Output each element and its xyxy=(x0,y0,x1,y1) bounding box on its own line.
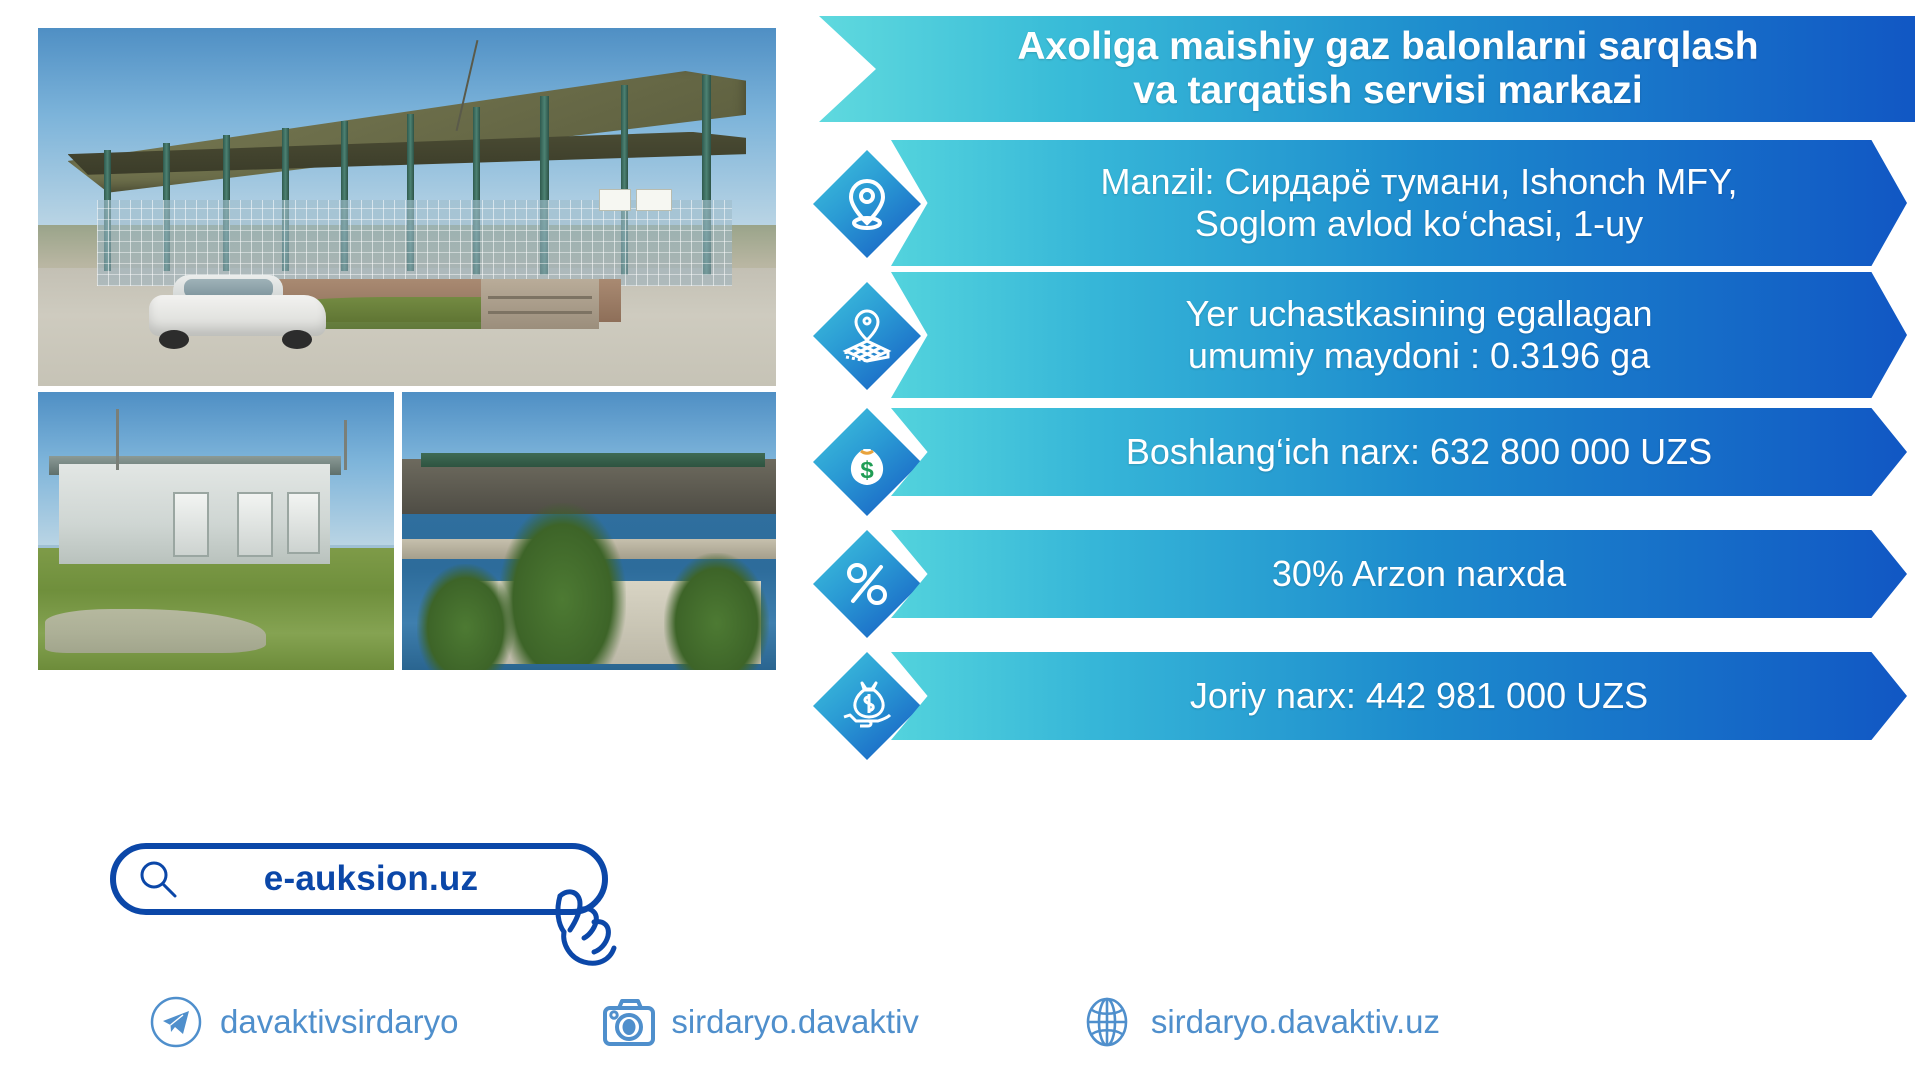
page-title-line1: Axoliga maishiy gaz balonlarni sarqlash xyxy=(1017,25,1758,69)
info-bar-current-price: Joriy narx: 442 981 000 UZS xyxy=(891,652,1907,740)
address-line2: Soglom avlod ko‘chasi, 1-uy xyxy=(957,203,1881,245)
search-bar[interactable]: e-auksion.uz xyxy=(110,843,608,915)
hand-pointer-icon xyxy=(536,880,646,972)
info-bar-land-area: Yer uchastkasining egallagan umumiy mayd… xyxy=(891,272,1907,398)
address-line1: Manzil: Сирдарё тумани, Ishonch MFY, xyxy=(957,161,1881,203)
search-icon xyxy=(136,857,180,901)
page-title-line2: va tarqatish servisi markazi xyxy=(1017,69,1758,113)
land-area-line1: Yer uchastkasining egallagan xyxy=(957,293,1881,335)
poster-canvas: e-auksion.uz davaktivsirdaryo xyxy=(0,0,1920,1080)
land-plot-icon xyxy=(813,282,921,390)
telegram-icon xyxy=(150,996,202,1048)
starting-price-text: Boshlang‘ich narx: 632 800 000 UZS xyxy=(957,431,1881,473)
info-bar-address: Manzil: Сирдарё тумани, Ishonch MFY, Sog… xyxy=(891,140,1907,266)
footer-link-telegram[interactable]: davaktivsirdaryo xyxy=(150,996,601,1048)
photo-blue-reservoir xyxy=(402,392,776,670)
info-panel: Axoliga maishiy gaz balonlarni sarqlash … xyxy=(795,0,1920,1080)
photo-white-building xyxy=(38,392,394,670)
car-in-photo xyxy=(149,271,326,350)
location-pin-icon xyxy=(813,150,921,258)
page-title: Axoliga maishiy gaz balonlarni sarqlash … xyxy=(819,16,1915,122)
svg-text:$: $ xyxy=(860,457,874,484)
discount-text: 30% Arzon narxda xyxy=(957,553,1881,595)
current-price-text: Joriy narx: 442 981 000 UZS xyxy=(957,675,1881,717)
photo-canopy-shed-with-car xyxy=(38,28,776,386)
info-bar-starting-price: Boshlang‘ich narx: 632 800 000 UZS xyxy=(891,408,1907,496)
footer-label-telegram: davaktivsirdaryo xyxy=(220,1003,458,1041)
instagram-camera-icon xyxy=(601,996,653,1048)
land-area-line2: umumiy maydoni : 0.3196 ga xyxy=(957,335,1881,377)
info-bar-discount: 30% Arzon narxda xyxy=(891,530,1907,618)
